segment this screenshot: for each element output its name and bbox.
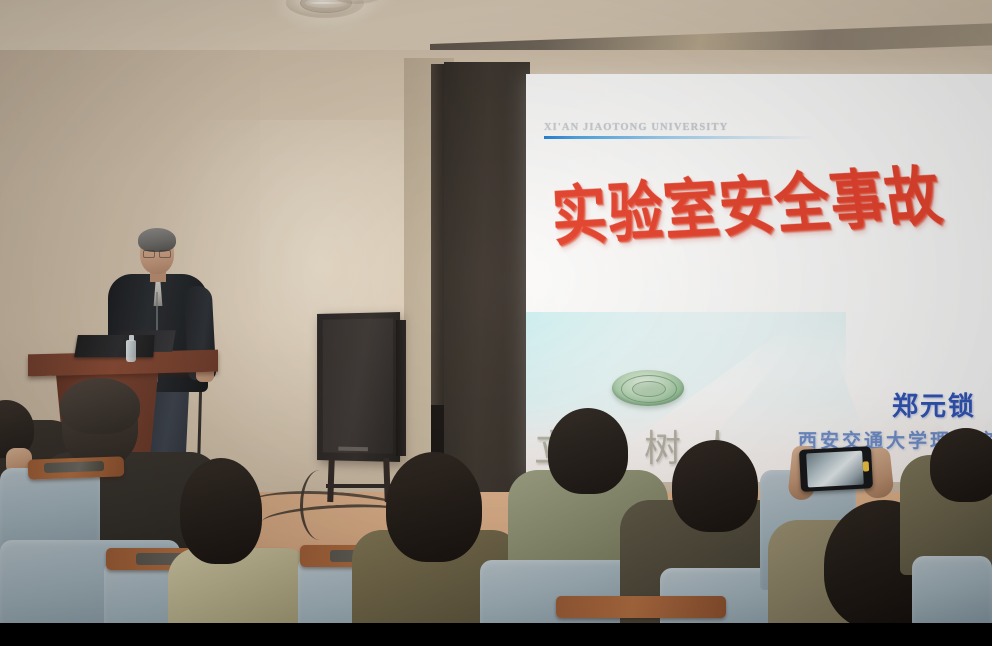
smartphone-screen [806,451,864,488]
pa-speaker-stand [326,458,394,502]
pa-speaker-cabinet [317,312,400,462]
pa-speaker-stand-brace [326,484,394,488]
camera-shutter-button-icon[interactable] [863,461,870,471]
university-seal-icon [612,370,684,406]
audience-member-2-hair [60,378,140,434]
audience-member-6-head [672,440,758,532]
audience-armrest-pad-1 [44,461,104,473]
presenter-laptop [74,335,155,357]
slide-presenter-name: 郑元锁 [892,386,976,423]
presenter-hair [138,228,176,252]
pa-speaker-badge [338,447,368,452]
screen-frame-column [444,62,530,520]
slide-header-rule [544,136,816,139]
slide-main-title: 实验室安全事故 [550,165,934,250]
smartphone-recording-slide[interactable] [799,446,873,492]
water-bottle [126,340,136,362]
lecture-hall-photo: 立德树人 XI'AN JIAOTONG UNIVERSITY 实验室安全事故 郑… [0,0,992,646]
audience-member-4-head [386,452,482,562]
slide-header-university: XI'AN JIAOTONG UNIVERSITY [544,122,832,133]
audience-member-7-head [930,428,992,502]
pa-speaker-side [396,320,406,456]
slide-header: XI'AN JIAOTONG UNIVERSITY [544,122,832,139]
audience-member-3-head [180,458,262,564]
presenter-glasses-icon [143,250,171,256]
audience-armrest-4[interactable] [556,596,726,618]
audience-member-5-head [548,408,628,494]
audience-chair-8[interactable] [912,556,992,623]
room: 立德树人 XI'AN JIAOTONG UNIVERSITY 实验室安全事故 郑… [0,0,992,623]
bottom-letterbox-bar [0,623,992,646]
